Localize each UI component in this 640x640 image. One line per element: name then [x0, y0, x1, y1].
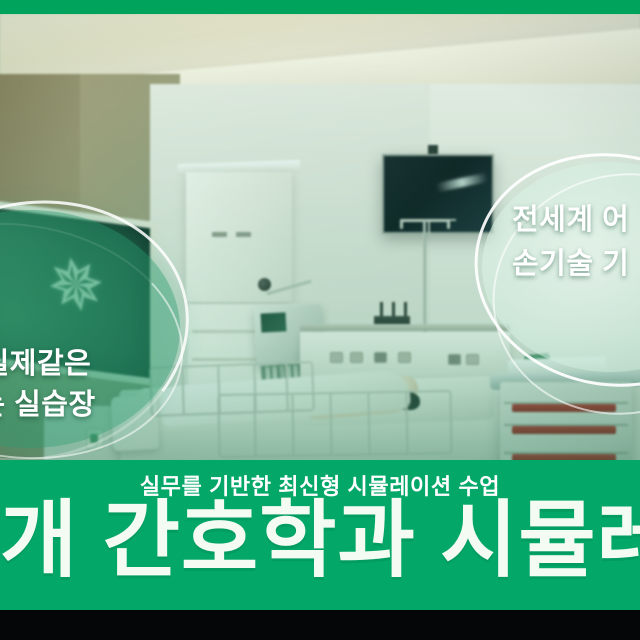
headwall-rail	[300, 324, 510, 331]
bed-side-rail	[217, 390, 452, 458]
wall-monitor	[382, 154, 494, 234]
headwall-port	[466, 354, 479, 365]
headwall-port	[350, 352, 363, 363]
banner-headline: 개 간호학과 시뮬레이	[0, 492, 640, 588]
cabinet-handle	[236, 232, 251, 237]
right-callout-line-2: 손기술 기	[512, 242, 640, 286]
rail-bar	[329, 394, 332, 454]
rail-bar	[405, 393, 408, 453]
monitor-glare	[436, 173, 489, 193]
right-callout-line-1: 전세계 어	[512, 198, 640, 242]
iv-pole-hook-left	[400, 219, 403, 229]
photo-scene: ✵	[0, 14, 640, 470]
bottom-green-banner: 실무를 기반한 최신형 시뮬레이션 수업 개 간호학과 시뮬레이	[0, 460, 640, 610]
rail-bar	[367, 393, 370, 453]
letterbox-bottom-bar	[0, 610, 640, 640]
video-frame: ✵	[0, 0, 640, 640]
top-green-strip	[0, 0, 640, 14]
cart-drawer-handle	[512, 426, 616, 434]
left-callout-line-2: 는 실습장	[0, 385, 162, 426]
rail-bar	[291, 395, 294, 455]
left-callout-line-1: 실제같은	[0, 344, 162, 385]
upper-cabinet	[186, 172, 292, 302]
headwall-port	[330, 352, 343, 363]
headwall-port	[374, 352, 387, 363]
headwall-port	[448, 354, 461, 365]
rail-bar	[253, 395, 256, 455]
left-callout-text: 실제같은 는 실습장	[0, 344, 162, 426]
ventilator-screen	[261, 312, 287, 332]
headwall-port	[398, 352, 411, 363]
iv-pole-hook-right	[447, 219, 450, 229]
cabinet-handle	[212, 232, 227, 237]
right-callout-text: 전세계 어 손기술 기	[512, 198, 640, 286]
rail-bar	[181, 368, 185, 414]
equipment-camera-head	[258, 278, 271, 291]
